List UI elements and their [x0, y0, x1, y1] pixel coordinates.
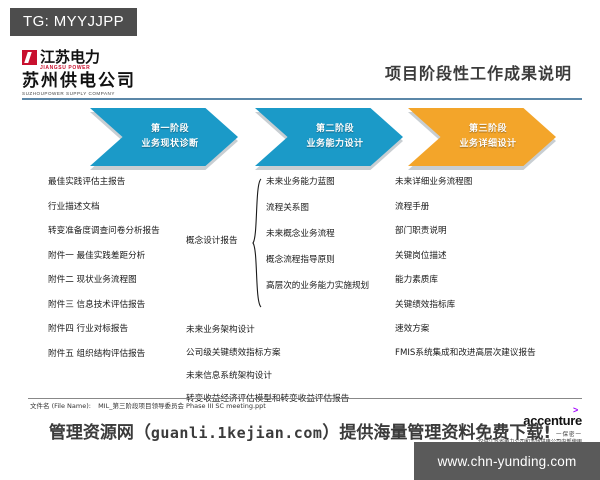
page-title: 项目阶段性工作成果说明 — [385, 60, 572, 84]
logo-cn-line2: 苏州供电公司 — [22, 72, 192, 91]
curly-brace-icon — [252, 178, 262, 308]
footer-divider — [28, 398, 582, 399]
deliverable-item: 关键绩效指标库 — [395, 299, 580, 311]
phase-1-line1: 第一阶段 — [139, 122, 189, 137]
deliverable-item: 未来业务能力蓝图 — [266, 176, 386, 188]
watermark-overlay: 管理资源网（guanli.1kejian.com）提供海量管理资料免费下载! — [0, 418, 600, 443]
deliverable-item: 附件一 最佳实践差距分析 — [48, 250, 198, 262]
deliverable-item: 流程手册 — [395, 201, 580, 213]
deliverable-item: 未来业务架构设计 — [186, 324, 386, 336]
tg-tag: TG: MYYJJPP — [10, 8, 137, 36]
phase-2-extra-items: 未来业务架构设计公司级关键绩效指标方案未来信息系统架构设计转变收益经济评估模型和… — [186, 324, 386, 405]
deliverable-item: 能力素质库 — [395, 274, 580, 286]
phase-chevron-row: 第一阶段 业务现状诊断 第二阶段 业务能力设计 第三阶段 业务详细设计 — [0, 108, 600, 170]
accenture-arrow-icon: > — [573, 406, 578, 415]
concept-design-group: 概念设计报告 未来业务能力蓝图流程关系图未来概念业务流程概念流程指导原则高层次的… — [186, 176, 386, 316]
deliverable-item: 附件五 组织结构评估报告 — [48, 348, 198, 360]
deliverable-item: 附件二 现状业务流程图 — [48, 274, 198, 286]
slide-canvas: 江苏电力 JIANGSU POWER 苏州供电公司 SUZHOUPOWER SU… — [0, 46, 600, 480]
deliverables-columns: 最佳实践评估主报告行业描述文档转变准备度调查问卷分析报告附件一 最佳实践差距分析… — [0, 176, 600, 426]
deliverable-item: FMIS系统集成和改进高层次建议报告 — [395, 348, 580, 360]
deliverable-item: 附件四 行业对标报告 — [48, 323, 198, 335]
phase-3-line1: 第三阶段 — [457, 122, 507, 137]
slide-header: 江苏电力 JIANGSU POWER 苏州供电公司 SUZHOUPOWER SU… — [0, 46, 600, 104]
file-name-value: MIL_第三阶段项目领导委员会 Phase III SC meeting.ppt — [98, 402, 266, 411]
deliverable-item: 未来信息系统架构设计 — [186, 370, 386, 382]
phase-1-line2: 业务现状诊断 — [129, 137, 198, 152]
deliverable-item: 附件三 信息技术评估报告 — [48, 299, 198, 311]
phase-1-deliverables: 最佳实践评估主报告行业描述文档转变准备度调查问卷分析报告附件一 最佳实践差距分析… — [48, 176, 198, 372]
deliverable-item: 最佳实践评估主报告 — [48, 176, 198, 188]
deliverable-item: 转变准备度调查问卷分析报告 — [48, 225, 198, 237]
deliverable-item: 公司级关键绩效指标方案 — [186, 347, 386, 359]
company-logo: 江苏电力 JIANGSU POWER 苏州供电公司 SUZHOUPOWER SU… — [22, 50, 192, 96]
jiangsu-power-mark-icon — [22, 50, 37, 65]
deliverable-item: 行业描述文档 — [48, 201, 198, 213]
deliverable-item: 部门职责说明 — [395, 225, 580, 237]
header-divider — [22, 98, 582, 100]
site-url-bar[interactable]: www.chn-yunding.com — [414, 442, 600, 480]
phase-3-line2: 业务详细设计 — [447, 137, 516, 152]
watermark-suffix: ）提供海量管理资料免费下载! — [322, 423, 551, 443]
logo-cn-line1: 江苏电力 — [40, 50, 100, 65]
deliverable-item: 流程关系图 — [266, 202, 386, 214]
deliverable-item: 未来详细业务流程图 — [395, 176, 580, 188]
deliverable-item: 概念流程指导原则 — [266, 254, 386, 266]
deliverable-item: 速效方案 — [395, 323, 580, 335]
watermark-url: guanli.1kejian.com — [151, 424, 323, 442]
watermark-prefix: 管理资源网（ — [49, 423, 151, 443]
concept-design-items: 未来业务能力蓝图流程关系图未来概念业务流程概念流程指导原则高层次的业务能力实施规… — [266, 176, 386, 306]
deliverable-item: 未来概念业务流程 — [266, 228, 386, 240]
phase-2-deliverables: 概念设计报告 未来业务能力蓝图流程关系图未来概念业务流程概念流程指导原则高层次的… — [186, 176, 386, 416]
deliverable-item: 高层次的业务能力实施规划 — [266, 280, 386, 292]
file-name-row: 文件名 (File Name): MIL_第三阶段项目领导委员会 Phase I… — [30, 402, 266, 411]
concept-design-label: 概念设计报告 — [186, 234, 238, 246]
phase-3-deliverables: 未来详细业务流程图流程手册部门职责说明关键岗位描述能力素质库关键绩效指标库速效方… — [395, 176, 580, 372]
phase-2-line2: 业务能力设计 — [294, 137, 363, 152]
file-name-label: 文件名 (File Name): — [30, 402, 96, 411]
logo-en-line2: SUZHOUPOWER SUPPLY COMPANY — [22, 91, 192, 96]
logo-top-row: 江苏电力 — [22, 50, 192, 65]
phase-2-line1: 第二阶段 — [304, 122, 354, 137]
deliverable-item: 关键岗位描述 — [395, 250, 580, 262]
